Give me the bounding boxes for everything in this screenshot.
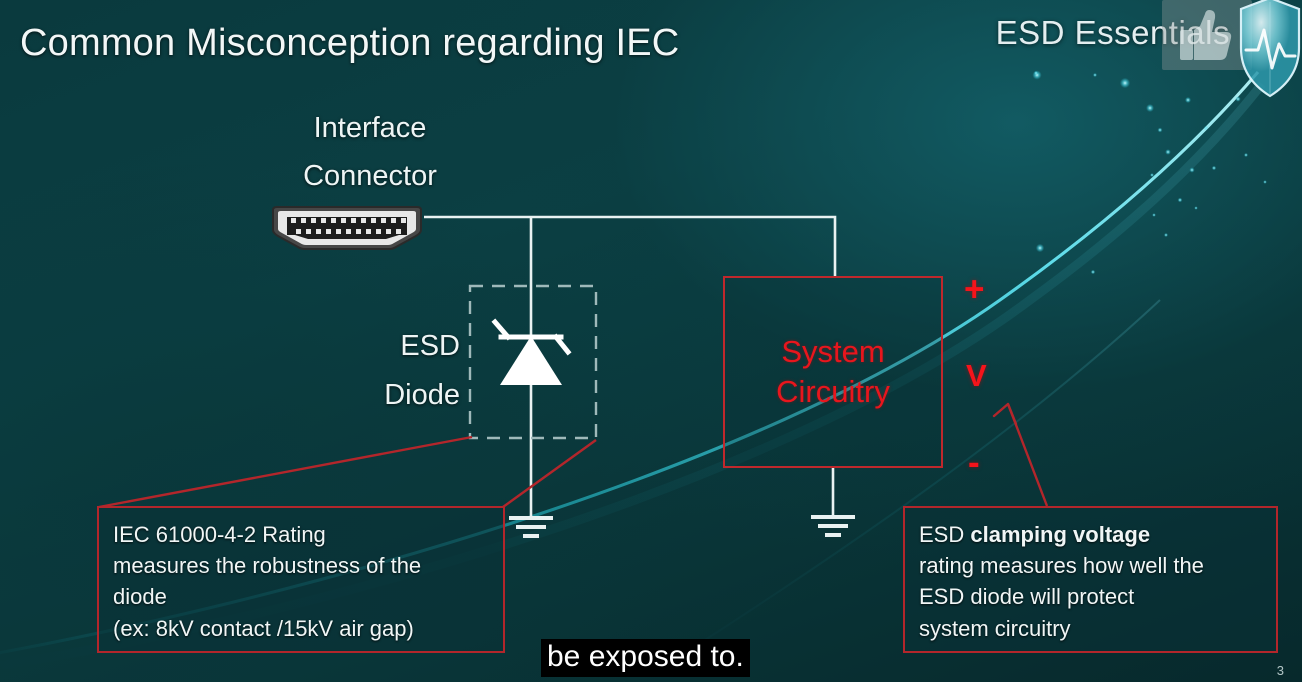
shield-pulse-logo-icon [1238,0,1302,100]
right-callout-line1: ESD clamping voltage [919,519,1276,550]
right-callout-line1-bold: clamping voltage [970,522,1150,547]
esd-diode-dashed-box [470,286,596,438]
right-callout-line4: system circuitry [919,613,1276,644]
left-callout-leader-2 [503,440,596,507]
slide-page-number: 3 [1277,663,1284,678]
right-callout-line2: rating measures how well the [919,550,1276,581]
interface-connector-label: Interface Connector [245,105,495,201]
right-callout-line3: ESD diode will protect [919,581,1276,612]
ground-symbol-icon [509,518,553,536]
video-caption: be exposed to. [541,639,750,677]
left-callout-line3: diode [113,581,503,612]
system-circuitry-box: System Circuitry [723,276,943,468]
slide-canvas: Common Misconception regarding IEC ESD E… [0,0,1302,682]
right-callout-line1-prefix: ESD [919,522,970,547]
system-circuitry-label: System Circuitry [776,332,890,411]
polarity-minus-label: - [968,443,980,483]
system-box-line1: System [776,332,890,372]
zener-diode-icon [495,322,568,385]
esd-label-line2: Diode [310,371,460,420]
interface-label-line2: Connector [245,153,495,201]
voltage-v-label: V [966,358,987,394]
iec-rating-callout: IEC 61000-4-2 Rating measures the robust… [97,506,505,653]
left-callout-line2: measures the robustness of the [113,550,503,581]
right-callout-arrow-line [1008,404,1047,506]
clamping-voltage-callout: ESD clamping voltage rating measures how… [903,506,1278,653]
left-callout-line4: (ex: 8kV contact /15kV air gap) [113,613,503,644]
right-callout-arrow-head [994,404,1016,424]
polarity-plus-label: + [964,270,984,310]
left-callout-leader-1 [99,437,472,507]
esd-label-line1: ESD [310,322,460,371]
system-box-line2: Circuitry [776,372,890,412]
esd-diode-label: ESD Diode [310,322,460,421]
interface-label-line1: Interface [245,105,495,153]
left-callout-line1: IEC 61000-4-2 Rating [113,519,503,550]
hdmi-connector-icon [268,205,426,251]
ground-symbol-icon-system [811,517,855,535]
page-title: Common Misconception regarding IEC [20,22,679,65]
wire-to-system [424,217,835,276]
